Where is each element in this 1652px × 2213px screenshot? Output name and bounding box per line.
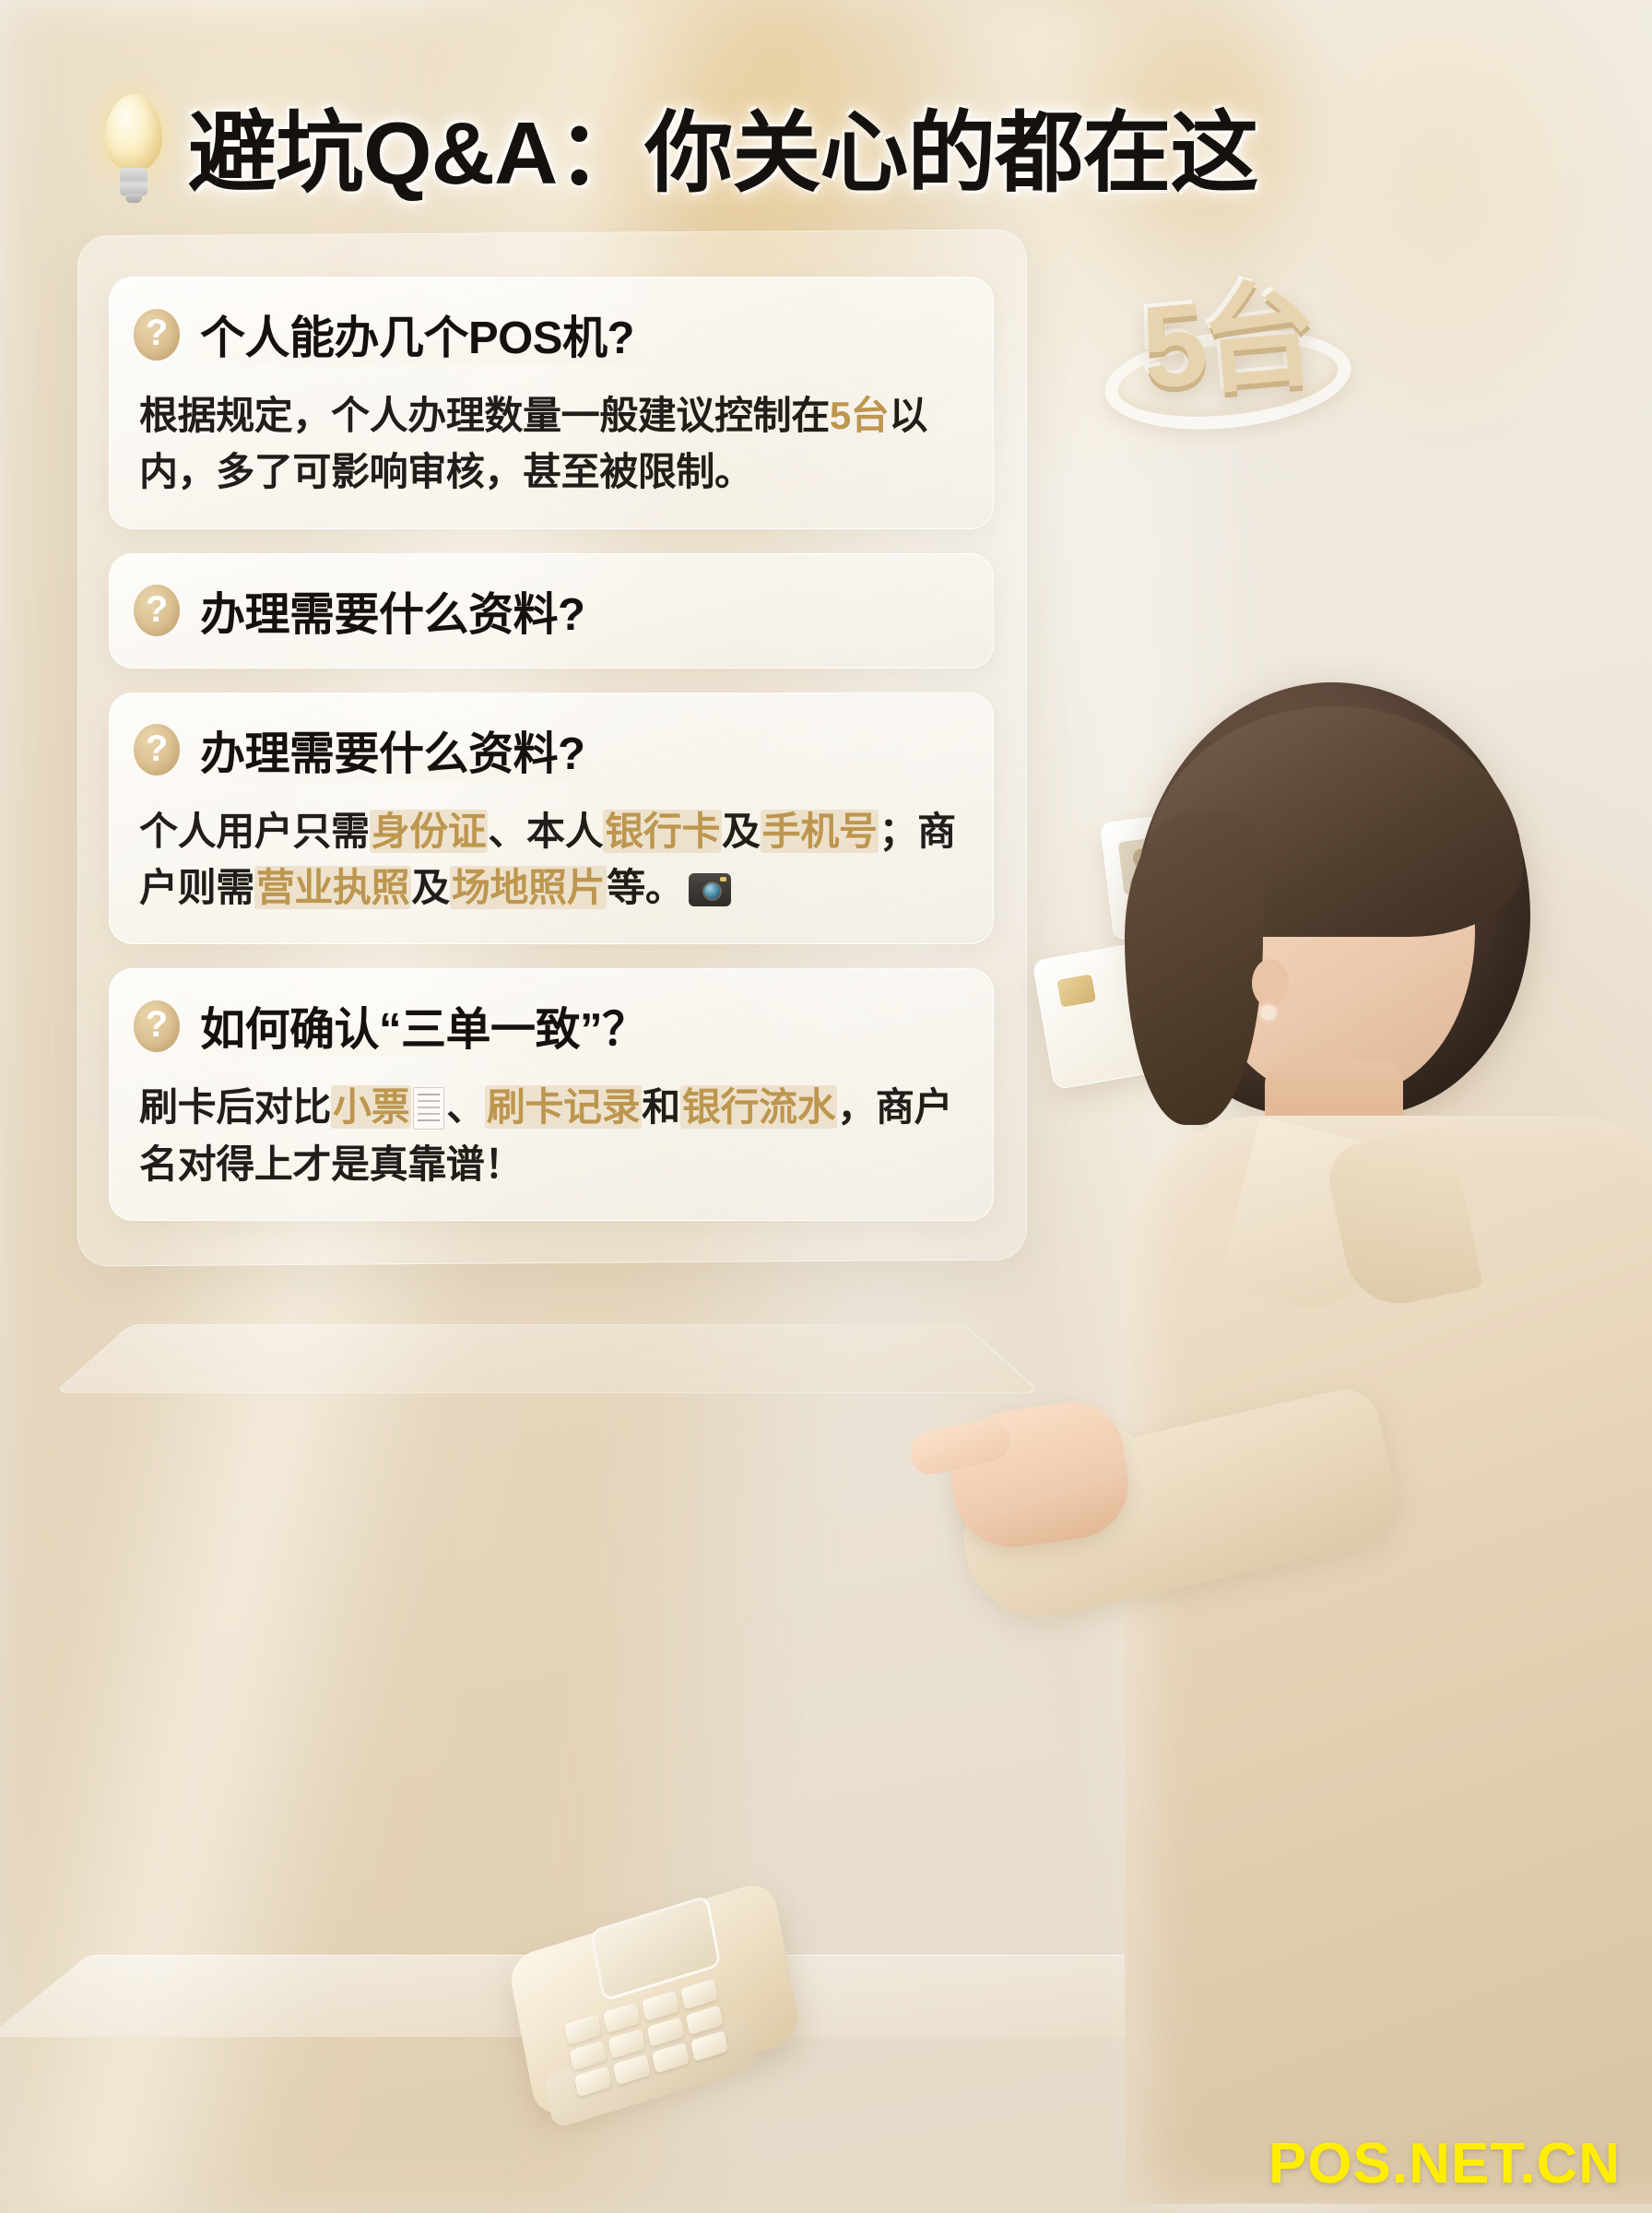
qa-question-text: 如何确认“三单一致”？ [196, 993, 651, 1059]
pos-key [686, 2005, 724, 2035]
glass-board-stand [54, 1324, 1042, 1393]
site-watermark: POS.NET.CN [1268, 2131, 1621, 2196]
answer-span-highlight: 手机号 [761, 810, 879, 853]
qa-card[interactable]: ?个人能办几个POS机?根据规定，个人办理数量一般建议控制在5台以内，多了可影响… [109, 277, 994, 529]
question-mark-icon: ? [134, 585, 180, 636]
receipt-icon [413, 1087, 444, 1130]
page-header: 避坑Q&A：你关心的都在这 [0, 81, 1652, 209]
qa-answer-text: 个人用户只需身份证、本人银行卡及手机号；商户则需营业执照及场地照片等。 [139, 803, 965, 917]
lightbulb-icon [100, 94, 168, 203]
answer-span: 等。 [607, 866, 683, 909]
qa-card[interactable]: ?办理需要什么资料? [109, 553, 994, 669]
answer-span: 个人用户只需 [139, 810, 370, 853]
woman-3d-character [961, 682, 1652, 2213]
answer-span: 根据规定，个人办理数量一般建议控制在 [139, 394, 830, 437]
pos-key [570, 2041, 608, 2071]
qa-question-row: ?个人能办几个POS机? [134, 302, 965, 367]
pos-terminal-icon [516, 1863, 903, 2139]
qa-question-label: 如何确认“三单一致”？ [200, 1005, 647, 1055]
answer-span-highlight: 营业执照 [254, 866, 411, 909]
lightbulb-base [120, 168, 147, 195]
qa-question-label: 个人能办几个POS机? [200, 314, 634, 363]
answer-span-highlight: 小票 [331, 1085, 411, 1129]
qa-question-text: 个人能办几个POS机? [196, 302, 638, 367]
qa-question-label: 办理需要什么资料? [200, 590, 584, 640]
qa-question-text: 办理需要什么资料? [196, 717, 588, 783]
qa-question-row: ?办理需要什么资料? [134, 578, 965, 644]
answer-span: 和 [642, 1085, 680, 1129]
qa-question-label: 办理需要什么资料? [200, 729, 584, 779]
answer-span-highlight: 银行流水 [680, 1085, 837, 1129]
answer-span: 刷卡后对比 [139, 1085, 331, 1129]
answer-span: 及 [722, 810, 761, 853]
qa-card[interactable]: ?办理需要什么资料?个人用户只需身份证、本人银行卡及手机号；商户则需营业执照及场… [109, 692, 994, 945]
answer-span-highlight: 5台 [830, 394, 890, 437]
qa-question-text: 办理需要什么资料? [196, 578, 588, 644]
question-mark-icon: ? [134, 724, 180, 775]
qa-card-list: ?个人能办几个POS机?根据规定，个人办理数量一般建议控制在5台以内，多了可影响… [109, 277, 994, 1245]
qa-answer-text: 根据规定，个人办理数量一般建议控制在5台以内，多了可影响审核，甚至被限制。 [139, 387, 965, 501]
answer-span: 及 [411, 866, 450, 909]
camera-icon [689, 873, 731, 906]
page-title: 避坑Q&A：你关心的都在这 [188, 81, 1257, 209]
qa-card[interactable]: ?如何确认“三单一致”？刷卡后对比小票、刷卡记录和银行流水，商户名对得上才是真靠… [109, 968, 994, 1221]
qa-question-row: ?如何确认“三单一致”？ [134, 993, 965, 1059]
question-mark-icon: ? [134, 309, 180, 361]
pos-key [647, 2017, 685, 2047]
answer-span-highlight: 银行卡 [603, 810, 722, 853]
five-units-decor: 5台 [1097, 247, 1374, 441]
answer-span-highlight: 身份证 [370, 810, 489, 853]
lightbulb-glass [105, 94, 162, 172]
answer-span-highlight: 刷卡记录 [485, 1085, 642, 1129]
answer-span: 、 [446, 1085, 485, 1129]
qa-answer-text: 刷卡后对比小票、刷卡记录和银行流水，商户名对得上才是真靠谱！ [139, 1079, 965, 1192]
decor-five-units-label: 5台 [1134, 240, 1317, 421]
answer-span: 、本人 [488, 810, 603, 853]
question-mark-icon: ? [134, 1000, 180, 1052]
character-ear [1252, 959, 1289, 1007]
answer-span-highlight: 场地照片 [450, 866, 607, 909]
pos-key [608, 2029, 646, 2059]
qa-question-row: ?办理需要什么资料? [134, 717, 965, 783]
